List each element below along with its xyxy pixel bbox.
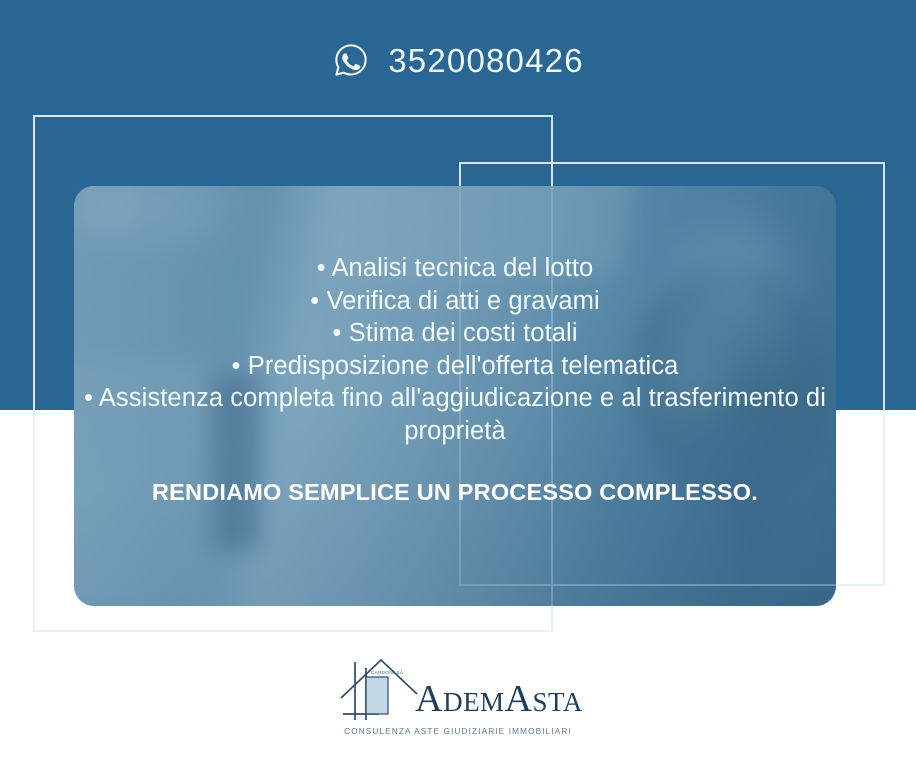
list-item: • Verifica di atti e gravami [74,285,836,318]
house-building-icon: CARDONASA [333,648,419,726]
poster-canvas: 3520080426 • Analisi tecnica del lotto •… [0,0,916,768]
logo-wordmark: AdemAsta [415,680,583,718]
logo-row: CARDONASA AdemAsta [333,648,583,726]
services-list: • Analisi tecnica del lotto • Verifica d… [74,252,836,447]
list-item: • Assistenza completa fino all'aggiudica… [74,382,836,447]
contact-header: 3520080426 [0,34,916,86]
phone-number[interactable]: 3520080426 [388,44,584,77]
tagline: RENDIAMO SEMPLICE UN PROCESSO COMPLESSO. [74,479,836,506]
list-item: • Predisposizione dell'offerta telematic… [74,350,836,383]
list-item: • Stima dei costi totali [74,317,836,350]
logo-subtitle: CONSULENZA ASTE GIUDIZIARIE IMMOBILIARI [344,727,572,736]
list-item: • Analisi tecnica del lotto [74,252,836,285]
whatsapp-icon [332,41,370,79]
brand-logo: CARDONASA AdemAsta CONSULENZA ASTE GIUDI… [0,648,916,752]
logo-mark-inner-text: CARDONASA [361,670,413,675]
services-list-items: • Analisi tecnica del lotto • Verifica d… [74,252,836,447]
